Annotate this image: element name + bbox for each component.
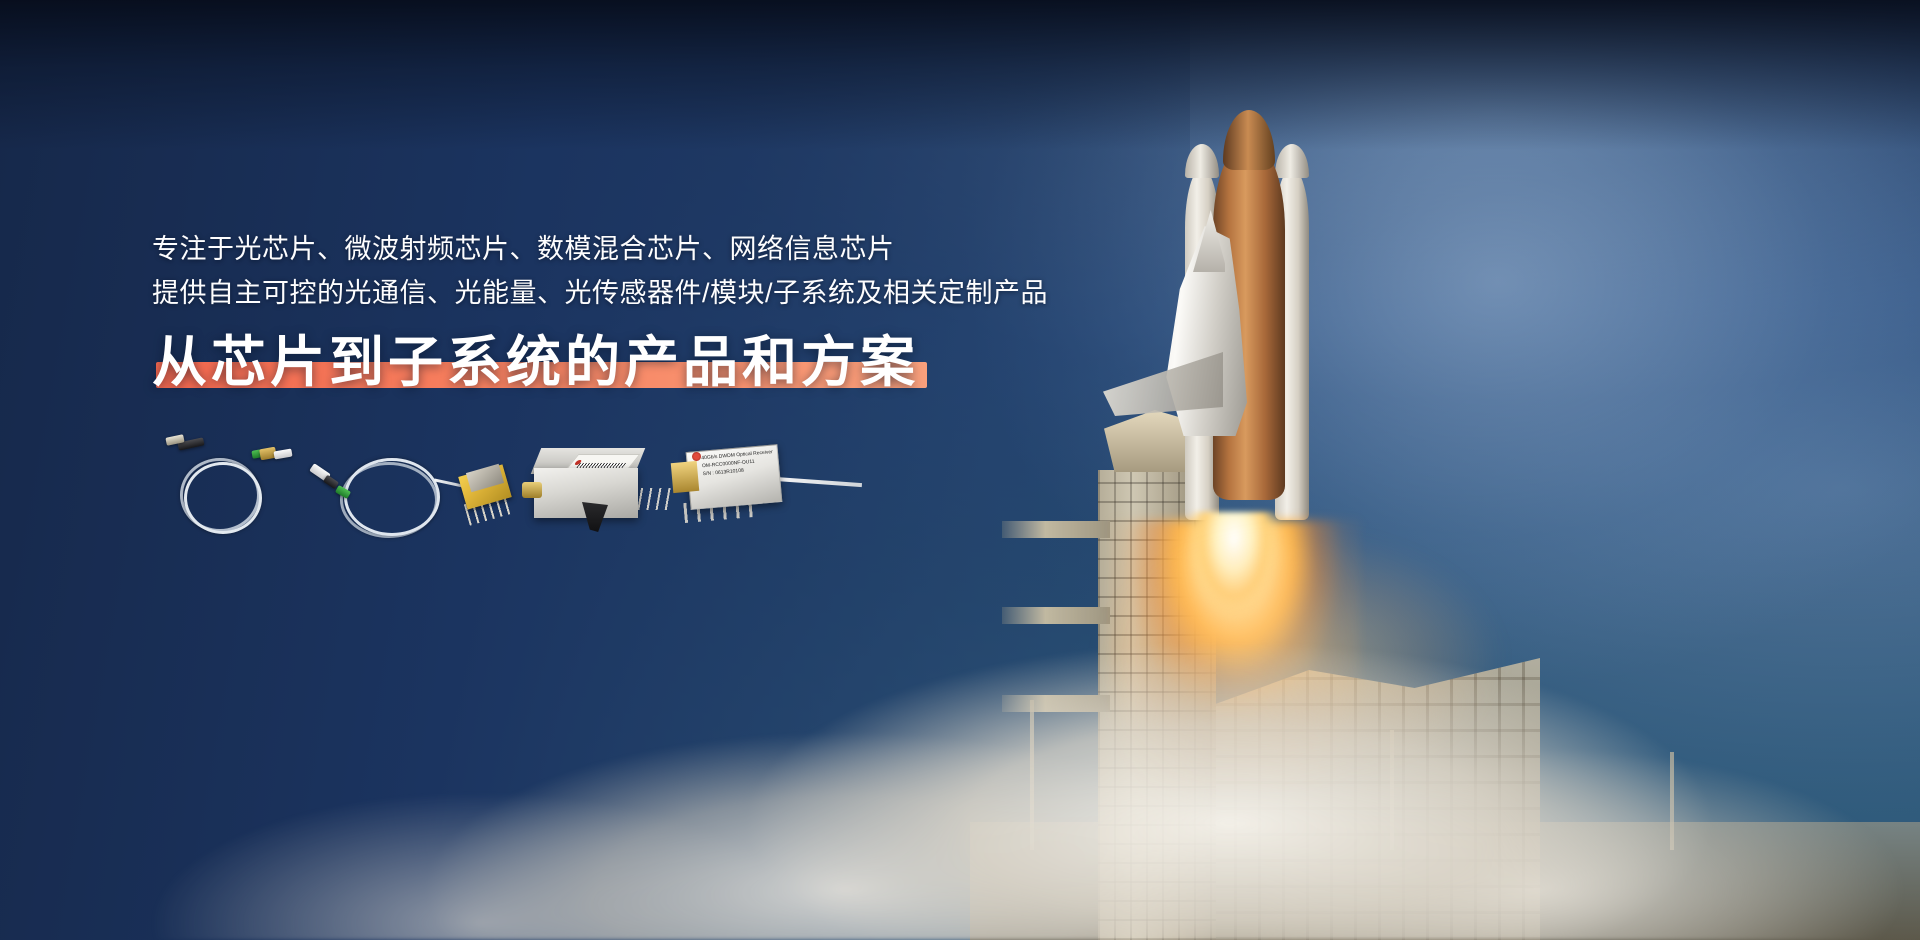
banner-subtitle-line-1: 专注于光芯片、微波射频芯片、数模混合芯片、网络信息芯片 — [152, 228, 1352, 272]
product-showcase: 40Gb/s DWDM Optical Receiver OM-RCC0000N… — [150, 432, 910, 542]
fiber-connector-white-boot — [273, 448, 292, 459]
banner-copy: 专注于光芯片、微波射频芯片、数模混合芯片、网络信息芯片 提供自主可控的光通信、光… — [152, 228, 1352, 397]
srb-nose-left — [1185, 144, 1219, 178]
fiber-loop-front-2 — [344, 458, 440, 536]
banner-subtitle-line-2: 提供自主可控的光通信、光能量、光传感器件/模块/子系统及相关定制产品 — [152, 272, 1352, 316]
banner-headline: 从芯片到子系统的产品和方案 — [152, 329, 919, 396]
receiver-sma-connector — [671, 461, 700, 493]
receiver-pigtail-fiber — [774, 477, 862, 487]
hero-banner: 专注于光芯片、微波射频芯片、数模混合芯片、网络信息芯片 提供自主可控的光通信、光… — [0, 0, 1920, 940]
product-cooled-optical-receiver: 40Gb/s DWDM Optical Receiver OM-RCC0000N… — [670, 440, 860, 540]
sky-top-vignette — [0, 0, 1920, 150]
srb-nose-right — [1275, 144, 1309, 178]
module-sma-connector — [522, 482, 542, 498]
product-rf-optical-module — [528, 444, 658, 536]
smoke-plume — [0, 520, 1920, 940]
product-fiber-patch-cord-lc — [160, 434, 310, 536]
banner-headline-wrap: 从芯片到子系统的产品和方案 — [152, 329, 919, 396]
fiber-loop-front — [184, 462, 262, 534]
product-butterfly-laser-module — [450, 454, 522, 528]
module-pin-row — [632, 488, 674, 510]
